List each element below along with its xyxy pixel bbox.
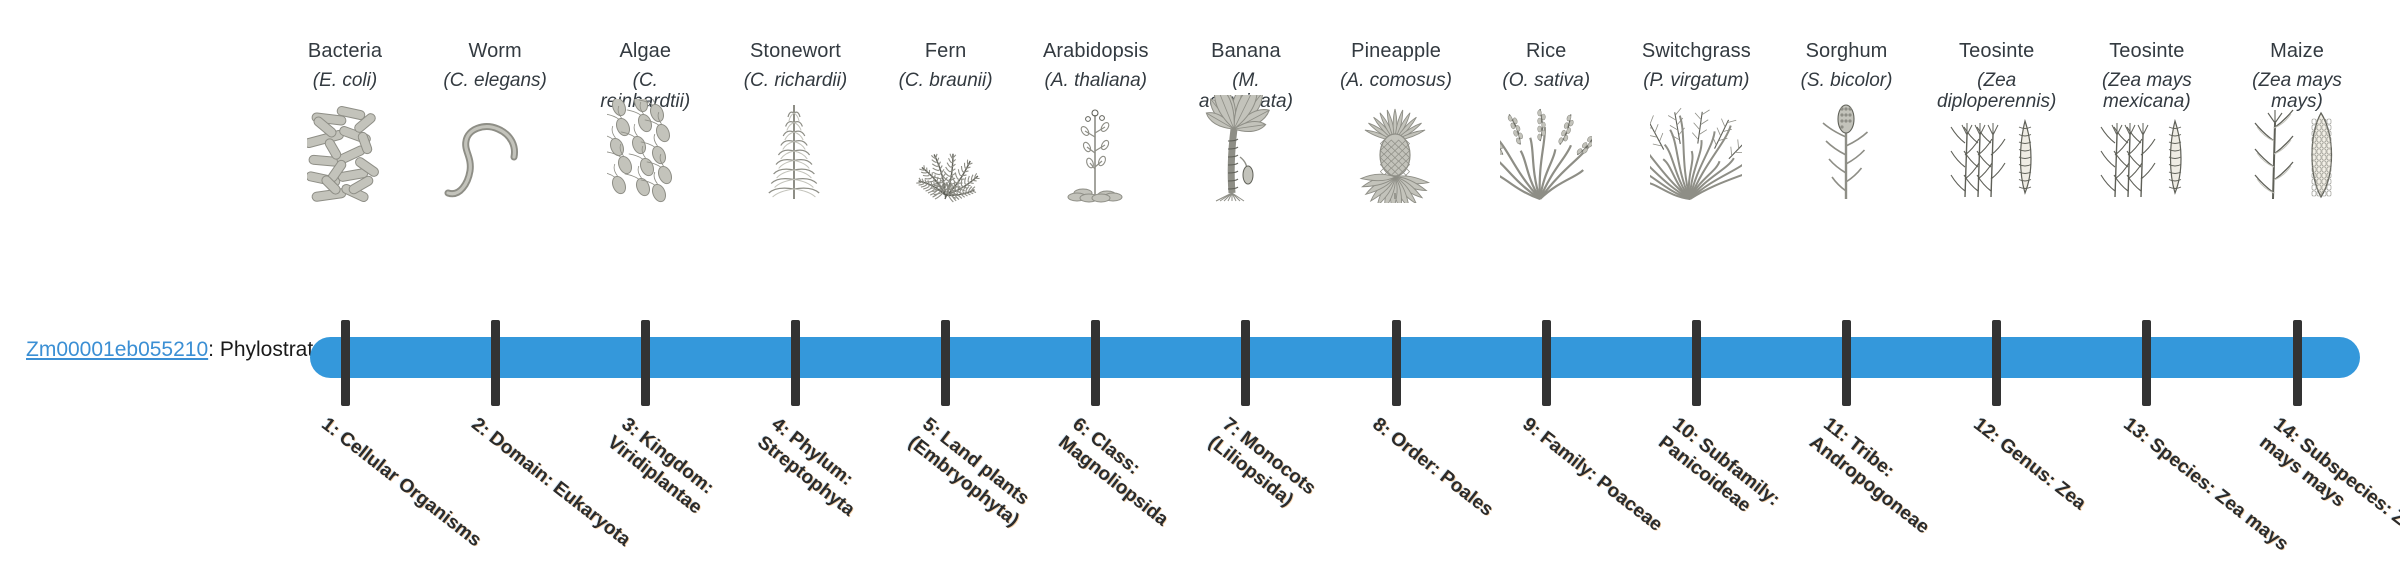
species-common-name: Teosinte xyxy=(2087,40,2207,62)
pineapple-illustration xyxy=(1336,108,1456,203)
timeline-tick xyxy=(791,320,800,406)
species-common-name: Bacteria xyxy=(285,40,405,62)
species-common-name: Sorghum xyxy=(1787,40,1907,62)
species-scientific-name: (S. bicolor) xyxy=(1787,70,1907,91)
species-scientific-name: (C. richardii) xyxy=(735,70,855,91)
stonewort-illustration xyxy=(735,108,855,203)
species-scientific-name: (C. braunii) xyxy=(886,70,1006,91)
species-scientific-name: (C. elegans) xyxy=(435,70,555,91)
algae-illustration xyxy=(585,108,705,203)
species-common-name: Pineapple xyxy=(1336,40,1456,62)
species-common-name: Fern xyxy=(886,40,1006,62)
species-column: Teosinte(Zea mays mexicana) xyxy=(2087,0,2207,580)
banana-illustration xyxy=(1186,108,1306,203)
timeline-tick xyxy=(641,320,650,406)
sorghum-illustration xyxy=(1787,108,1907,203)
species-column: Worm(C. elegans) xyxy=(435,0,555,580)
switchgrass-illustration xyxy=(1636,108,1756,203)
species-column: Rice(O. sativa) xyxy=(1486,0,1606,580)
maize-illustration xyxy=(2237,108,2357,203)
species-scientific-name: (E. coli) xyxy=(285,70,405,91)
timeline-tick xyxy=(341,320,350,406)
species-scientific-name: (O. sativa) xyxy=(1486,70,1606,91)
timeline-tick xyxy=(2293,320,2302,406)
phylostratigraphy-figure: Zm00001eb055210: Phylostratum 1 Bacteria… xyxy=(0,0,2400,580)
species-common-name: Banana xyxy=(1186,40,1306,62)
species-scientific-name: (P. virgatum) xyxy=(1636,70,1756,91)
species-common-name: Maize xyxy=(2237,40,2357,62)
species-column: Bacteria(E. coli) xyxy=(285,0,405,580)
timeline-tick xyxy=(1542,320,1551,406)
species-scientific-name: (A. comosus) xyxy=(1336,70,1456,91)
species-common-name: Switchgrass xyxy=(1636,40,1756,62)
fern-illustration xyxy=(886,108,1006,203)
species-column: Teosinte(Zea diploperennis) xyxy=(1937,0,2057,580)
rice-illustration xyxy=(1486,108,1606,203)
species-common-name: Rice xyxy=(1486,40,1606,62)
timeline-tick xyxy=(1091,320,1100,406)
gene-phylostratum-label: Zm00001eb055210: Phylostratum 1 xyxy=(26,338,296,362)
arabidopsis-illustration xyxy=(1036,108,1156,203)
timeline-tick xyxy=(2142,320,2151,406)
species-common-name: Worm xyxy=(435,40,555,62)
species-common-name: Algae xyxy=(585,40,705,62)
species-common-name: Teosinte xyxy=(1937,40,2057,62)
timeline-tick xyxy=(1241,320,1250,406)
worm-illustration xyxy=(435,108,555,203)
timeline-tick xyxy=(941,320,950,406)
timeline-tick xyxy=(1692,320,1701,406)
species-common-name: Arabidopsis xyxy=(1036,40,1156,62)
species-column: Pineapple(A. comosus) xyxy=(1336,0,1456,580)
timeline-tick xyxy=(491,320,500,406)
teosinte-illustration xyxy=(2087,108,2207,203)
species-common-name: Stonewort xyxy=(735,40,855,62)
timeline-tick xyxy=(1992,320,2001,406)
gene-id-link[interactable]: Zm00001eb055210 xyxy=(26,338,208,361)
bacteria-illustration xyxy=(285,108,405,203)
timeline-tick xyxy=(1392,320,1401,406)
gene-label-separator: : xyxy=(208,338,220,361)
teosinte-illustration xyxy=(1937,108,2057,203)
timeline-tick xyxy=(1842,320,1851,406)
species-scientific-name: (A. thaliana) xyxy=(1036,70,1156,91)
